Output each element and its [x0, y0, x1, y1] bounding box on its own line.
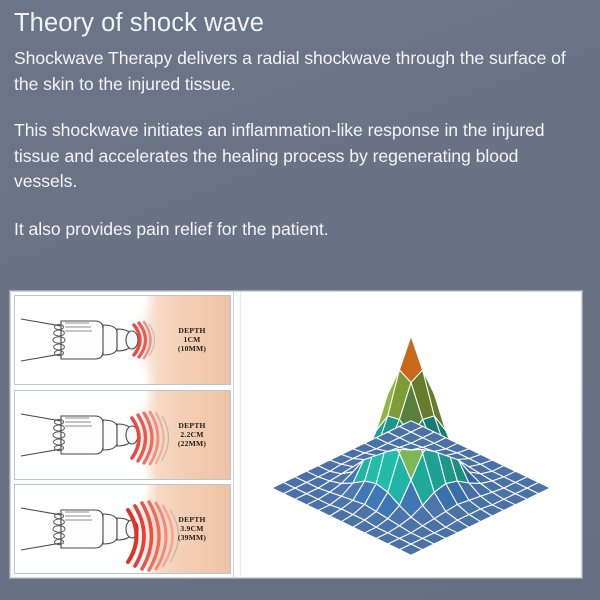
- surface-plot-canvas: [241, 292, 581, 577]
- depth-mm: (39MM): [159, 534, 225, 543]
- device-panel-depth-2-2cm: DEPTH 2.2CM (22MM): [14, 390, 231, 480]
- column-divider: [233, 292, 241, 577]
- depth-title: DEPTH: [159, 326, 225, 335]
- slide-root: Theory of shock wave Shockwave Therapy d…: [0, 0, 600, 600]
- depth-label-1cm: DEPTH 1CM (10MM): [159, 326, 225, 354]
- figure-panel: DEPTH 1CM (10MM): [10, 291, 582, 578]
- surface-plot: [241, 292, 581, 577]
- depth-title: DEPTH: [159, 515, 225, 524]
- depth-cm: 1CM: [159, 335, 225, 344]
- depth-mm: (22MM): [159, 439, 225, 448]
- depth-label-3-9cm: DEPTH 3.9CM (39MM): [159, 515, 225, 543]
- device-panel-column: DEPTH 1CM (10MM): [11, 292, 233, 577]
- depth-label-2-2cm: DEPTH 2.2CM (22MM): [159, 421, 225, 449]
- page-title: Theory of shock wave: [14, 6, 584, 40]
- depth-cm: 3.9CM: [159, 524, 225, 533]
- depth-mm: (10MM): [159, 345, 225, 354]
- text-content: Theory of shock wave Shockwave Therapy d…: [14, 6, 584, 242]
- paragraph-1: Shockwave Therapy delivers a radial shoc…: [14, 46, 584, 97]
- depth-title: DEPTH: [159, 421, 225, 430]
- device-panel-depth-1cm: DEPTH 1CM (10MM): [14, 295, 231, 385]
- paragraph-2: This shockwave initiates an inflammation…: [14, 118, 584, 195]
- paragraph-3: It also provides pain relief for the pat…: [14, 217, 584, 243]
- depth-cm: 2.2CM: [159, 430, 225, 439]
- device-panel-depth-3-9cm: DEPTH 3.9CM (39MM): [14, 484, 231, 574]
